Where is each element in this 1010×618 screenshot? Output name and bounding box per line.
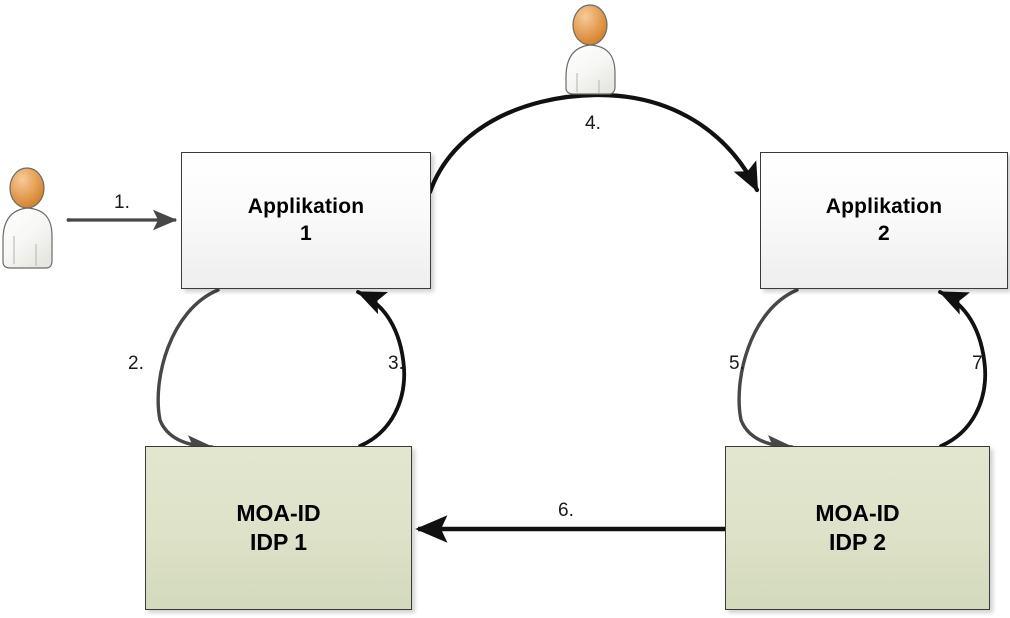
step-5-label: 5. [729,353,745,375]
moa-id-idp-2-box[interactable]: MOA-ID IDP 2 [725,446,990,610]
step-7-label: 7. [972,353,988,375]
moa-id-idp-1-label-line2: IDP 1 [250,528,307,557]
user-actor-left [3,168,52,268]
application-1-label-line2: 1 [300,221,312,248]
step-2-label: 2. [128,353,144,375]
application-1-box[interactable]: Applikation 1 [181,152,431,289]
step-3-label: 3. [388,353,404,375]
connector-step-1 [67,218,176,222]
application-2-box[interactable]: Applikation 2 [760,152,1008,289]
moa-id-idp-1-box[interactable]: MOA-ID IDP 1 [145,446,412,610]
user-actor-top [566,5,615,94]
application-1-label-line1: Applikation [248,194,365,221]
step-1-label: 1. [114,192,130,214]
step-4-label: 4. [585,113,601,135]
application-2-label-line2: 2 [878,221,890,248]
moa-id-idp-1-label-line1: MOA-ID [236,499,320,528]
moa-id-idp-2-label-line1: MOA-ID [815,499,899,528]
diagram-canvas: Applikation 1 Applikation 2 MOA-ID IDP 1… [0,0,1010,618]
application-2-label-line1: Applikation [826,194,943,221]
connector-step-4 [430,95,757,192]
step-6-label: 6. [558,500,574,522]
connector-step-5 [739,290,797,447]
moa-id-idp-2-label-line2: IDP 2 [829,528,886,557]
connector-step-2 [158,290,218,447]
